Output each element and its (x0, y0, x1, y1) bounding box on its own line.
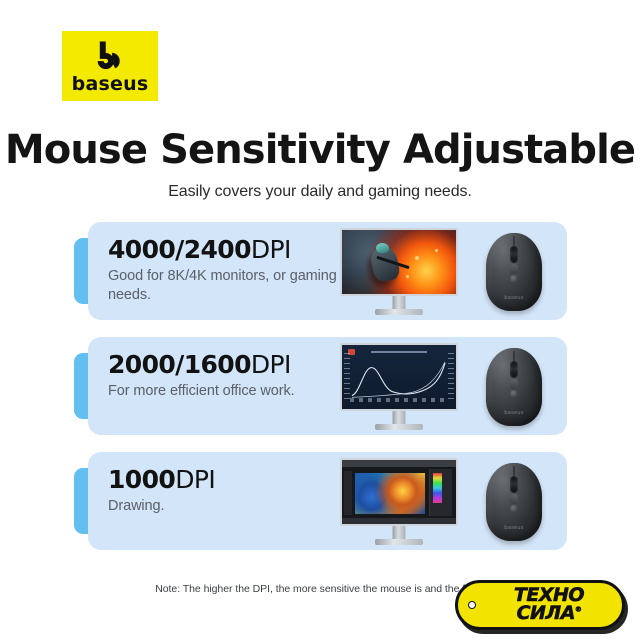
chart-x-axis (350, 398, 448, 402)
card-text-block: 1000DPI Drawing. (108, 466, 348, 516)
page-title: Mouse Sensitivity Adjustable (0, 129, 640, 171)
color-picker-icon (433, 473, 442, 503)
ember-spark (435, 249, 438, 252)
dpi-description: For more efficient office work. (108, 382, 348, 401)
dpi-button-icon (510, 275, 518, 283)
monitor-illustration (340, 458, 458, 546)
monitor-screen (340, 228, 458, 296)
dpi-heading: 4000/2400DPI (108, 236, 348, 264)
watermark-line-2: СИЛА® (517, 605, 582, 623)
dpi-unit: DPI (175, 465, 215, 494)
dpi-heading: 2000/1600DPI (108, 351, 348, 379)
dpi-button-icon (510, 505, 518, 513)
monitor-stand-base (375, 424, 423, 430)
card-body: 1000DPI Drawing. (88, 452, 567, 550)
editor-artwork (355, 473, 425, 514)
watermark-line-2-text: СИЛА (517, 602, 575, 624)
dpi-description: Good for 8K/4K monitors, or gaming needs… (108, 267, 348, 304)
monitor-stand-neck (393, 526, 406, 539)
mouse-illustration: baseus (486, 463, 542, 541)
dpi-unit: DPI (251, 235, 291, 264)
scroll-wheel-icon (510, 246, 518, 263)
monitor-illustration (340, 343, 458, 431)
baseus-wordmark: baseus (72, 75, 149, 94)
monitor-screen (340, 343, 458, 411)
mouse-center-strip (510, 379, 518, 389)
monitor-stand-base (375, 309, 423, 315)
editor-status-bar (342, 518, 456, 524)
mouse-illustration: baseus (486, 233, 542, 311)
dpi-card: 2000/1600DPI For more efficient office w… (0, 337, 640, 435)
mouse-center-strip (510, 494, 518, 504)
scroll-wheel-icon (510, 361, 518, 378)
page-subtitle: Easily covers your daily and gaming need… (0, 183, 640, 201)
card-text-block: 2000/1600DPI For more efficient office w… (108, 351, 348, 401)
dpi-card-list: 4000/2400DPI Good for 8K/4K monitors, or… (0, 222, 640, 567)
photo-editor-screen (342, 460, 456, 524)
monitor-screen (340, 458, 458, 526)
mouse-brand-label: baseus (504, 295, 524, 301)
dpi-value: 1000 (108, 465, 175, 494)
mouse-illustration: baseus (486, 348, 542, 426)
card-body: 4000/2400DPI Good for 8K/4K monitors, or… (88, 222, 567, 320)
editor-menu-bar (342, 460, 456, 467)
watermark-text: ТЕХНО СИЛА® (481, 584, 617, 626)
gaming-screen (342, 230, 456, 294)
dpi-value: 2000/1600 (108, 350, 251, 379)
monitor-stand-neck (393, 296, 406, 309)
screen-chart-title-bar (371, 351, 427, 353)
dpi-card: 1000DPI Drawing. (0, 452, 640, 550)
baseus-b-mark (93, 39, 127, 73)
registered-mark: ® (575, 606, 582, 614)
chart-right-axis (448, 353, 454, 399)
editor-toolbar (344, 471, 352, 515)
card-text-block: 4000/2400DPI Good for 8K/4K monitors, or… (108, 236, 348, 304)
dpi-value: 4000/2400 (108, 235, 251, 264)
card-body: 2000/1600DPI For more efficient office w… (88, 337, 567, 435)
dpi-unit: DPI (251, 350, 291, 379)
tehnosila-watermark: ТЕХНО СИЛА® (455, 580, 625, 630)
chart-screen (342, 345, 456, 409)
scroll-wheel-icon (510, 476, 518, 493)
dpi-description: Drawing. (108, 497, 348, 516)
monitor-stand-base (375, 539, 423, 545)
monitor-illustration (340, 228, 458, 316)
baseus-logo: baseus (62, 31, 158, 101)
watermark-hole (468, 601, 476, 609)
ember-spark (406, 275, 409, 278)
ember-spark (415, 256, 419, 260)
mouse-brand-label: baseus (504, 410, 524, 416)
chart-curves (350, 359, 446, 399)
mouse-brand-label: baseus (504, 525, 524, 531)
dpi-heading: 1000DPI (108, 466, 348, 494)
monitor-stand-neck (393, 411, 406, 424)
dpi-card: 4000/2400DPI Good for 8K/4K monitors, or… (0, 222, 640, 320)
dpi-button-icon (510, 390, 518, 398)
mouse-center-strip (510, 264, 518, 274)
